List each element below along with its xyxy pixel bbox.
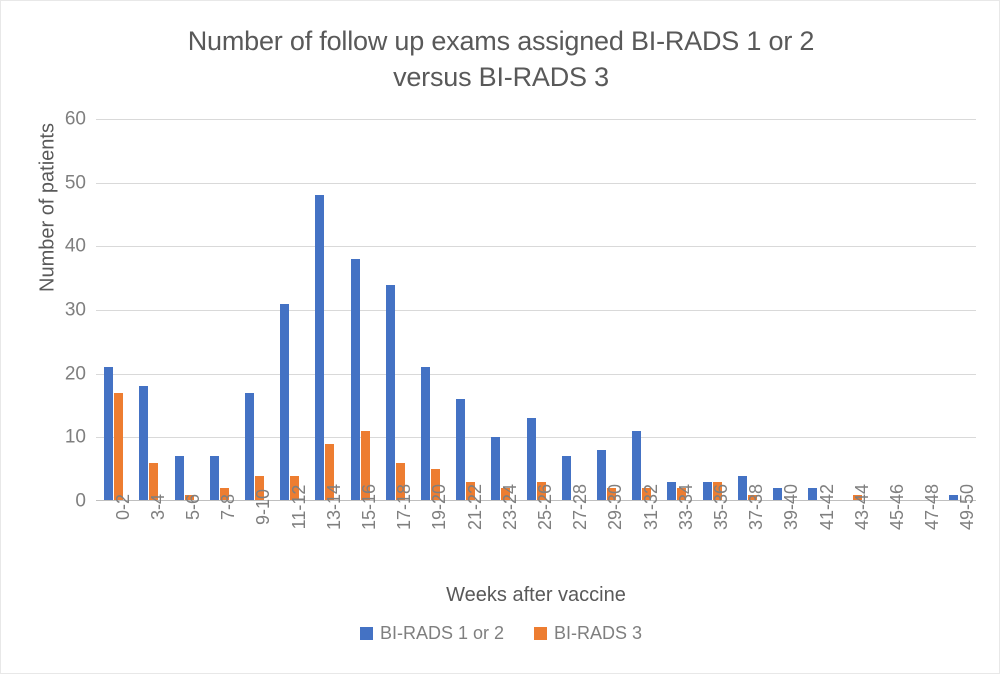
x-tick-cell: 31-32	[624, 501, 659, 579]
bar-group	[906, 119, 941, 501]
x-tick-label: 35-36	[712, 484, 730, 530]
bar-group	[272, 119, 307, 501]
x-tick-label: 3-4	[149, 494, 167, 520]
bar	[351, 259, 360, 501]
bar-group	[589, 119, 624, 501]
legend-item[interactable]: BI-RADS 3	[534, 623, 642, 644]
y-tick-label: 40	[42, 237, 86, 256]
legend-swatch-icon	[534, 627, 547, 640]
chart-figure: Number of follow up exams assigned BI-RA…	[0, 0, 1000, 674]
bar-group	[483, 119, 518, 501]
bar-group	[835, 119, 870, 501]
x-tick-cell: 15-16	[342, 501, 377, 579]
bar	[456, 399, 465, 501]
x-tick-label: 9-10	[254, 489, 272, 525]
x-tick-cell: 19-20	[413, 501, 448, 579]
x-tick-label: 25-26	[536, 484, 554, 530]
x-tick-cell: 23-24	[483, 501, 518, 579]
x-tick-cell: 21-22	[448, 501, 483, 579]
bar-group	[624, 119, 659, 501]
chart-title-line-2: versus BI-RADS 3	[91, 59, 911, 95]
y-tick-label: 0	[42, 492, 86, 511]
x-axis-tick-labels: 0-23-45-67-89-1011-1213-1415-1617-1819-2…	[96, 501, 976, 579]
bar-group	[96, 119, 131, 501]
x-tick-cell: 47-48	[906, 501, 941, 579]
x-tick-label: 13-14	[325, 484, 343, 530]
bar-group	[237, 119, 272, 501]
x-tick-label: 43-44	[853, 484, 871, 530]
x-tick-cell: 13-14	[307, 501, 342, 579]
x-tick-cell: 9-10	[237, 501, 272, 579]
x-tick-label: 33-34	[677, 484, 695, 530]
bar-group	[518, 119, 553, 501]
bar-group	[941, 119, 976, 501]
x-tick-label: 11-12	[290, 485, 308, 530]
y-tick-label: 20	[42, 364, 86, 383]
x-tick-cell: 29-30	[589, 501, 624, 579]
bar	[114, 393, 123, 501]
bar	[632, 431, 641, 501]
x-tick-label: 7-8	[219, 494, 237, 520]
x-tick-label: 49-50	[958, 484, 976, 530]
bar-groups	[96, 119, 976, 501]
x-tick-cell: 37-38	[730, 501, 765, 579]
y-tick-label: 60	[42, 110, 86, 129]
bar	[386, 285, 395, 501]
bar-group	[659, 119, 694, 501]
bar-group	[554, 119, 589, 501]
x-tick-label: 45-46	[888, 484, 906, 530]
x-tick-label: 15-16	[360, 484, 378, 530]
chart-legend: BI-RADS 1 or 2BI-RADS 3	[1, 623, 1000, 644]
y-tick-label: 10	[42, 428, 86, 447]
x-axis-title: Weeks after vaccine	[96, 584, 976, 607]
x-tick-label: 17-18	[395, 484, 413, 530]
bar-group	[694, 119, 729, 501]
bar-group	[765, 119, 800, 501]
legend-swatch-icon	[360, 627, 373, 640]
bar-group	[448, 119, 483, 501]
x-tick-cell: 27-28	[554, 501, 589, 579]
x-tick-cell: 45-46	[870, 501, 905, 579]
y-axis-tick-labels: 6050403020100	[34, 119, 86, 501]
x-tick-cell: 33-34	[659, 501, 694, 579]
bar-group	[342, 119, 377, 501]
chart-title-line-1: Number of follow up exams assigned BI-RA…	[91, 23, 911, 59]
x-tick-cell: 17-18	[378, 501, 413, 579]
x-tick-cell: 3-4	[131, 501, 166, 579]
x-tick-label: 31-32	[642, 484, 660, 530]
bar-group	[307, 119, 342, 501]
bar	[667, 482, 676, 501]
legend-item[interactable]: BI-RADS 1 or 2	[360, 623, 504, 644]
bar-group	[730, 119, 765, 501]
bar-group	[378, 119, 413, 501]
bar-group	[800, 119, 835, 501]
bar-group	[413, 119, 448, 501]
y-tick-label: 50	[42, 173, 86, 192]
bar	[245, 393, 254, 501]
x-tick-label: 0-2	[114, 494, 132, 520]
bar	[315, 195, 324, 501]
x-tick-cell: 39-40	[765, 501, 800, 579]
bar	[491, 437, 500, 501]
x-tick-label: 27-28	[571, 484, 589, 530]
x-tick-label: 47-48	[923, 484, 941, 530]
bar-group	[166, 119, 201, 501]
x-tick-cell: 43-44	[835, 501, 870, 579]
x-tick-cell: 0-2	[96, 501, 131, 579]
x-tick-cell: 41-42	[800, 501, 835, 579]
legend-label: BI-RADS 1 or 2	[380, 623, 504, 644]
plot-area	[96, 119, 976, 501]
x-tick-cell: 25-26	[518, 501, 553, 579]
x-tick-label: 19-20	[430, 484, 448, 530]
bar-group	[202, 119, 237, 501]
bar-group	[131, 119, 166, 501]
x-tick-label: 29-30	[606, 484, 624, 530]
x-tick-cell: 7-8	[202, 501, 237, 579]
bar	[280, 304, 289, 501]
chart-title: Number of follow up exams assigned BI-RA…	[91, 23, 911, 95]
legend-label: BI-RADS 3	[554, 623, 642, 644]
x-tick-cell: 5-6	[166, 501, 201, 579]
x-tick-cell: 49-50	[941, 501, 976, 579]
bar	[139, 386, 148, 501]
bar	[421, 367, 430, 501]
y-tick-label: 30	[42, 301, 86, 320]
x-tick-label: 23-24	[501, 484, 519, 530]
x-tick-cell: 35-36	[694, 501, 729, 579]
x-tick-cell: 11-12	[272, 501, 307, 579]
bar	[104, 367, 113, 501]
bar-group	[870, 119, 905, 501]
x-tick-label: 5-6	[184, 494, 202, 520]
x-tick-label: 37-38	[747, 484, 765, 530]
x-tick-label: 41-42	[818, 484, 836, 530]
x-tick-label: 39-40	[782, 484, 800, 530]
x-tick-label: 21-22	[466, 484, 484, 530]
